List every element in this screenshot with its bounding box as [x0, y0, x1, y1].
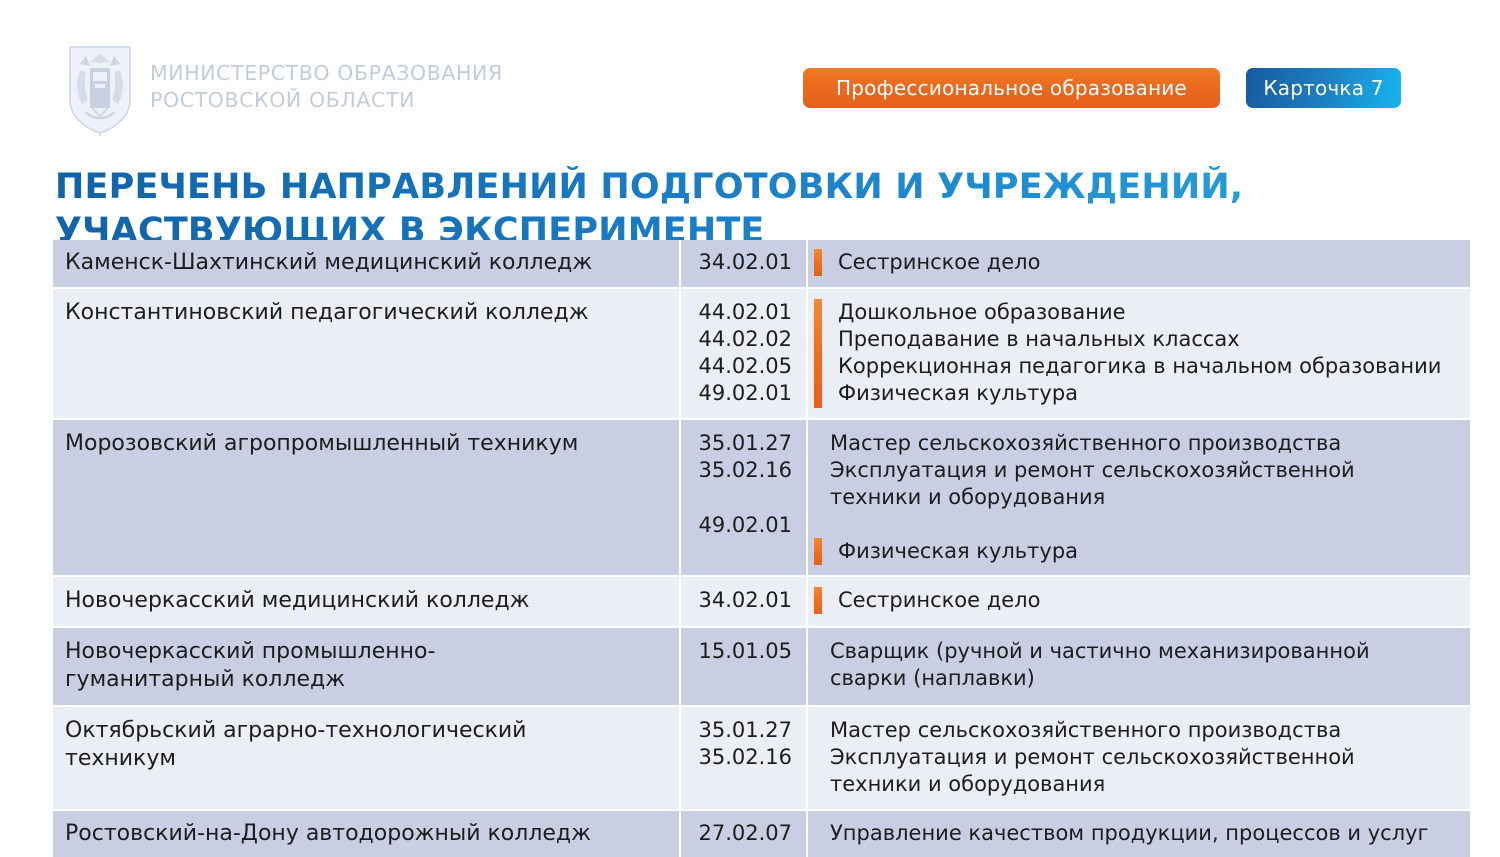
program-name-group: Мастер сельскохозяйственного производств… — [808, 717, 1460, 799]
program-names-cell: Мастер сельскохозяйственного производств… — [808, 707, 1470, 809]
organization-cell: Константиновский педагогический колледж — [53, 289, 681, 418]
program-name-group: Мастер сельскохозяйственного производств… — [808, 430, 1460, 512]
organization-cell: Каменск-Шахтинский медицинский колледж — [53, 240, 681, 287]
card-number-badge[interactable]: Карточка 7 — [1246, 68, 1401, 108]
table-row: Новочеркасский медицинский колледж34.02.… — [53, 575, 1470, 626]
program-codes-cell: 35.01.27 35.02.16 49.02.01 — [681, 420, 808, 575]
program-name-group-extra: Физическая культура — [808, 538, 1460, 565]
ministry-name: МИНИСТЕРСТВО ОБРАЗОВАНИЯ РОСТОВСКОЙ ОБЛА… — [150, 44, 503, 115]
organization-cell: Новочеркасский промышленно- гуманитарный… — [53, 628, 681, 705]
program-codes-cell: 15.01.05 — [681, 628, 808, 705]
orange-accent-bar — [814, 587, 822, 614]
organization-cell: Морозовский агропромышленный техникум — [53, 420, 681, 575]
program-codes-cell: 44.02.01 44.02.02 44.02.05 49.02.01 — [681, 289, 808, 418]
program-names-cell: Управление качеством продукции, процессо… — [808, 811, 1470, 857]
program-codes-cell: 34.02.01 — [681, 577, 808, 626]
table-row: Каменск-Шахтинский медицинский колледж34… — [53, 240, 1470, 287]
table-row: Ростовский-на-Дону автодорожный колледж2… — [53, 809, 1470, 857]
table-row: Морозовский агропромышленный техникум35.… — [53, 418, 1470, 575]
rostov-oblast-coat-of-arms-icon — [66, 44, 134, 136]
program-names-cell: Мастер сельскохозяйственного производств… — [808, 420, 1470, 575]
table-row: Октябрьский аграрно-технологический техн… — [53, 705, 1470, 809]
orange-accent-bar — [814, 249, 822, 276]
program-name-group: Сестринское дело — [808, 249, 1460, 276]
page-header: МИНИСТЕРСТВО ОБРАЗОВАНИЯ РОСТОВСКОЙ ОБЛА… — [0, 0, 1500, 135]
orange-accent-bar — [814, 538, 822, 565]
program-codes-cell: 34.02.01 — [681, 240, 808, 287]
program-name-group: Управление качеством продукции, процессо… — [808, 820, 1460, 847]
table-row: Константиновский педагогический колледж4… — [53, 287, 1470, 418]
program-spacer — [808, 512, 1460, 538]
organization-cell: Ростовский-на-Дону автодорожный колледж — [53, 811, 681, 857]
program-name-group: Сварщик (ручной и частично механизирован… — [808, 638, 1460, 693]
section-badge[interactable]: Профессиональное образование — [803, 68, 1220, 108]
program-names-cell: Сестринское дело — [808, 240, 1470, 287]
orange-accent-bar — [814, 299, 822, 408]
program-names-cell: Сварщик (ручной и частично механизирован… — [808, 628, 1470, 705]
program-names-cell: Дошкольное образование Преподавание в на… — [808, 289, 1470, 418]
program-name-group: Сестринское дело — [808, 587, 1460, 614]
program-names-cell: Сестринское дело — [808, 577, 1470, 626]
organization-cell: Новочеркасский медицинский колледж — [53, 577, 681, 626]
program-codes-cell: 35.01.27 35.02.16 — [681, 707, 808, 809]
table-row: Новочеркасский промышленно- гуманитарный… — [53, 626, 1470, 705]
program-name-group: Дошкольное образование Преподавание в на… — [808, 299, 1460, 408]
programs-table: Каменск-Шахтинский медицинский колледж34… — [53, 240, 1470, 857]
ministry-branding: МИНИСТЕРСТВО ОБРАЗОВАНИЯ РОСТОВСКОЙ ОБЛА… — [66, 44, 503, 136]
organization-cell: Октябрьский аграрно-технологический техн… — [53, 707, 681, 809]
program-codes-cell: 27.02.07 — [681, 811, 808, 857]
